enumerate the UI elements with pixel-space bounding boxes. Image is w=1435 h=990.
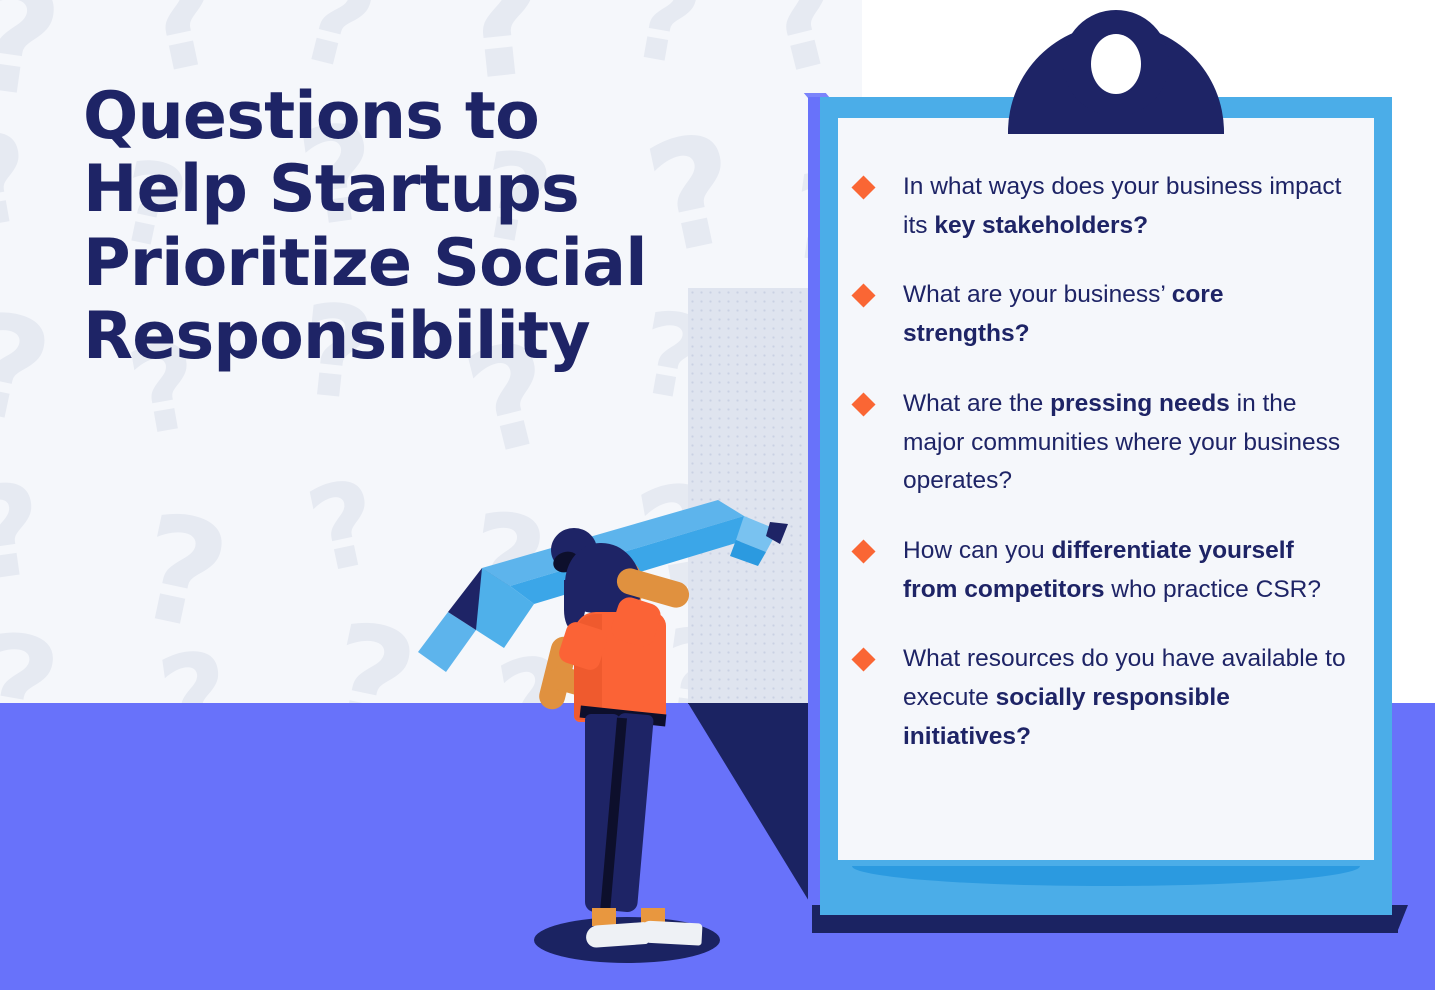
question-text-1: In what ways does your business impact i… bbox=[903, 168, 1355, 245]
question-text-3: What are the pressing needs in the major… bbox=[903, 385, 1355, 501]
page-title: Questions to Help Startups Prioritize So… bbox=[83, 80, 783, 374]
title-line-4: Responsibility bbox=[83, 300, 783, 373]
diamond-bullet-icon bbox=[851, 539, 875, 563]
title-line-1: Questions to bbox=[83, 80, 783, 153]
title-line-3: Prioritize Social bbox=[83, 227, 783, 300]
list-item: What are the pressing needs in the major… bbox=[855, 385, 1355, 501]
list-item: In what ways does your business impact i… bbox=[855, 168, 1355, 245]
list-item: How can you differentiate yourself from … bbox=[855, 532, 1355, 609]
list-item: What are your business’ core strengths? bbox=[855, 276, 1355, 353]
question-text-5: What resources do you have available to … bbox=[903, 640, 1355, 756]
list-item: What resources do you have available to … bbox=[855, 640, 1355, 756]
title-line-2: Help Startups bbox=[83, 153, 783, 226]
diamond-bullet-icon bbox=[851, 284, 875, 308]
clipboard-clip-hole bbox=[1091, 34, 1141, 94]
diamond-bullet-icon bbox=[851, 175, 875, 199]
infographic-canvas: ?????????????????????????????? Questions… bbox=[0, 0, 1435, 990]
question-text-4: How can you differentiate yourself from … bbox=[903, 532, 1355, 609]
question-list: In what ways does your business impact i… bbox=[855, 168, 1355, 787]
question-text-2: What are your business’ core strengths? bbox=[903, 276, 1355, 353]
diamond-bullet-icon bbox=[851, 648, 875, 672]
diamond-bullet-icon bbox=[851, 392, 875, 416]
character-right-shoe bbox=[639, 920, 702, 945]
